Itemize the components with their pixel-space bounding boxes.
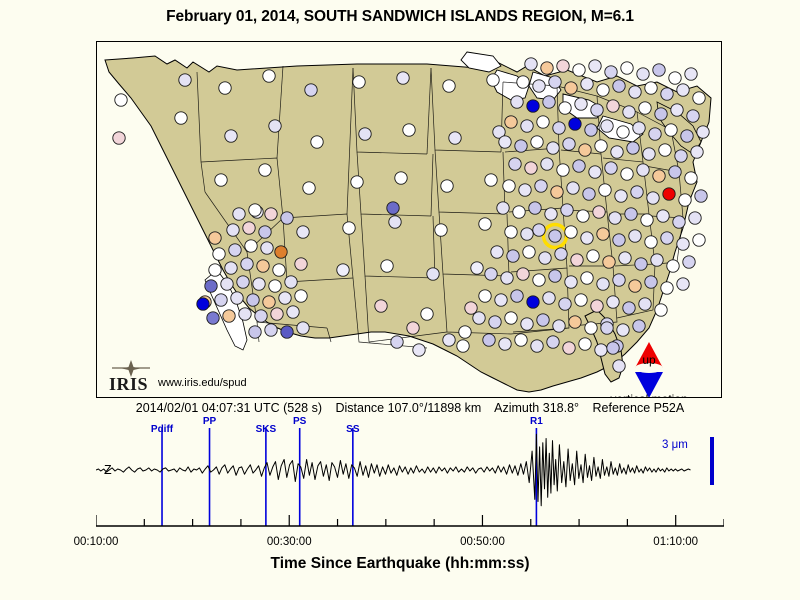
axis-ticks (96, 515, 724, 526)
time-tick-label: 01:10:00 (653, 536, 698, 548)
phase-label-ss: SS (346, 424, 359, 435)
scale-bar-label: 3 μm (662, 439, 688, 451)
station-map (97, 42, 721, 397)
info-distance: Distance 107.0°/11898 km (335, 401, 481, 415)
phase-label-r1: R1 (530, 416, 543, 427)
iris-logo: IRIS www.iris.edu/spud (108, 359, 247, 391)
phase-label-pdiff: Pdiff (151, 424, 173, 435)
phase-label-ps: PS (293, 416, 306, 427)
event-info-line: 2014/02/01 04:07:31 UTC (528 s) Distance… (96, 401, 724, 415)
channel-label: Z (104, 463, 112, 477)
station-map-panel: IRIS www.iris.edu/spud up vertical motio… (96, 41, 722, 398)
phase-label-pp: PP (203, 416, 216, 427)
phase-label-sks: SKS (256, 424, 277, 435)
waveform-trace (96, 434, 691, 505)
x-axis-title: Time Since Earthquake (hh:mm:ss) (0, 555, 800, 573)
info-azimuth: Azimuth 318.8° (494, 401, 579, 415)
iris-logomark: IRIS (108, 359, 154, 391)
time-axis (96, 515, 724, 526)
seismogram-panel: Z 3 μm PdiffPPSKSPSSSR1 (96, 422, 724, 532)
svg-text:IRIS: IRIS (109, 374, 148, 391)
amplitude-scale-bar (710, 437, 714, 485)
time-tick-label: 00:50:00 (460, 536, 505, 548)
time-axis-labels: 00:10:0000:30:0000:50:0001:10:00 (96, 536, 724, 552)
iris-url-text: www.iris.edu/spud (158, 377, 247, 389)
legend-up-label: up (642, 353, 655, 367)
legend-title: vertical motion (610, 392, 687, 398)
seismogram-plot (96, 422, 724, 532)
page-title: February 01, 2014, SOUTH SANDWICH ISLAND… (0, 8, 800, 26)
time-tick-label: 00:30:00 (267, 536, 312, 548)
info-reference: Reference P52A (593, 401, 685, 415)
info-origin-time: 2014/02/01 04:07:31 UTC (528 s) (136, 401, 322, 415)
time-tick-label: 00:10:00 (74, 536, 119, 548)
